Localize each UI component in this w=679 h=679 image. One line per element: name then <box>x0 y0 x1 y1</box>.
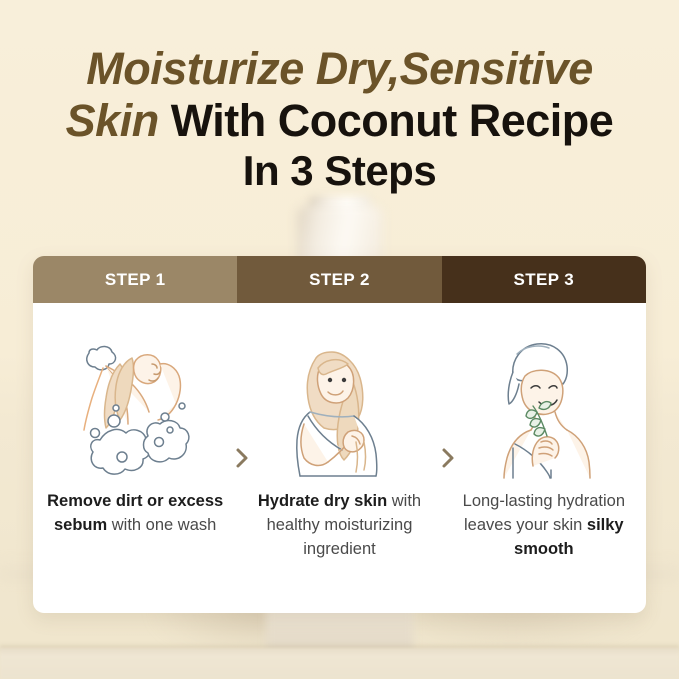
steps-tab-bar: STEP 1 STEP 2 STEP 3 <box>33 256 646 303</box>
headline-line-1-emphasis: Moisturize Dry,Sensitive <box>86 43 593 94</box>
tab-step-3-label: STEP 3 <box>513 270 574 290</box>
step-2-caption-bold: Hydrate dry skin <box>258 492 387 510</box>
headline-line-1: Moisturize Dry,Sensitive <box>0 46 679 91</box>
woman-washing-with-foam-illustration <box>48 317 223 482</box>
step-1-caption: Remove dirt or excess sebum with one was… <box>41 490 229 538</box>
tab-step-3[interactable]: STEP 3 <box>442 256 646 303</box>
step-3: Long-lasting hydration leaves your skin … <box>442 303 646 613</box>
chevron-right-icon <box>231 443 253 473</box>
tab-step-2[interactable]: STEP 2 <box>237 256 441 303</box>
headline-line-2-emphasis: Skin <box>66 95 159 146</box>
headline-line-2-plain: With Coconut Recipe <box>159 95 614 146</box>
headline-line-2: Skin With Coconut Recipe <box>0 98 679 143</box>
headline-line-3: In 3 Steps <box>0 150 679 192</box>
steps-body: Remove dirt or excess sebum with one was… <box>33 303 646 613</box>
chevron-right-icon-2 <box>437 443 459 473</box>
table-surface <box>0 648 679 679</box>
promo-banner: Moisturize Dry,Sensitive Skin With Cocon… <box>0 0 679 679</box>
step-2-caption: Hydrate dry skin with healthy moisturizi… <box>245 490 433 562</box>
step-2: Hydrate dry skin with healthy moisturizi… <box>237 303 441 613</box>
headline-line-3-plain: In 3 Steps <box>243 147 436 194</box>
tab-step-1[interactable]: STEP 1 <box>33 256 237 303</box>
tab-step-1-label: STEP 1 <box>105 270 166 290</box>
headline: Moisturize Dry,Sensitive Skin With Cocon… <box>0 46 679 199</box>
step-1-caption-light: with one wash <box>107 516 216 534</box>
tab-step-2-label: STEP 2 <box>309 270 370 290</box>
step-1: Remove dirt or excess sebum with one was… <box>33 303 237 613</box>
step-3-caption: Long-lasting hydration leaves your skin … <box>450 490 638 562</box>
steps-card: STEP 1 STEP 2 STEP 3 <box>33 256 646 613</box>
woman-holding-long-hair-illustration <box>264 317 414 482</box>
woman-with-hair-towel-and-leaf-illustration <box>469 317 619 482</box>
